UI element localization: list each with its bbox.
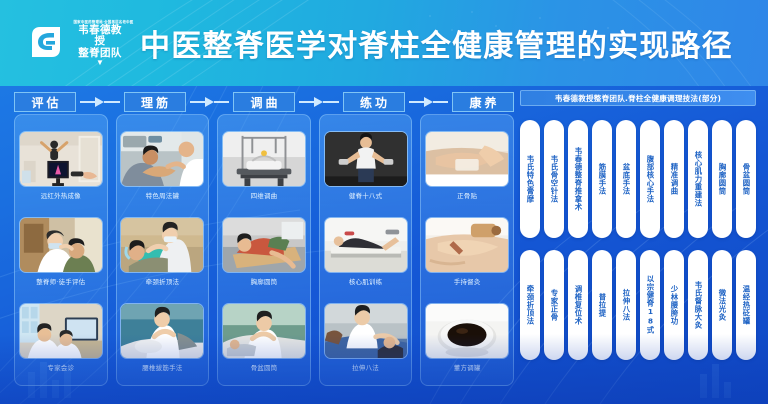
photo-cell[interactable]: 董方调罐 [425,303,509,372]
technique-tag[interactable]: 盆底手法 [616,120,636,238]
photo-cell[interactable]: 四维调曲 [222,131,306,200]
step-arrow-1 [76,97,124,107]
photo-pelvic-cylinder [222,303,306,359]
photo-caption: 整脊师·徒手评估 [36,276,85,286]
photo-cell[interactable]: 胸廓圆筒 [222,217,306,286]
technique-tag[interactable]: 温经热砭罐 [736,250,756,360]
technique-label: 韦氏督脉大灸 [693,281,703,329]
column-lijin: 特色周法罐 [116,114,210,386]
technique-tag[interactable]: 少林腰胯功 [664,250,684,360]
photo-cell[interactable]: 专家会诊 [19,303,103,372]
photo-cell[interactable]: 正骨贴 [425,131,509,200]
technique-list-panel: 韦春德教授整脊团队.脊柱全健康调理技法(部分) 韦氏特色膏摩 韦氏骨空针法 韦春… [520,90,756,386]
technique-panel-title: 韦春德教授整脊团队.脊柱全健康调理技法(部分) [520,90,756,106]
technique-label: 微法光灸 [717,289,727,321]
technique-tag[interactable]: 专家正骨 [544,250,564,360]
column-tiaoqu: 四维调曲 胸廓圆 [217,114,311,386]
technique-tag[interactable]: 骨盆圆筒 [736,120,756,238]
technique-label: 少林腰胯功 [669,285,679,325]
header-band: 国家中医药管理局·全国基层名老中医 韦春德教授 整脊团队 ▼ 中医整脊医学对脊柱… [0,0,768,86]
technique-label: 盆底手法 [621,163,631,195]
brand-logo-text: 国家中医药管理局·全国基层名老中医 韦春德教授 整脊团队 ▼ [74,20,126,67]
step-arrow-3 [295,97,343,107]
photo-caption: 腰椎拔筋手法 [142,362,182,372]
poster-canvas: 国家中医药管理局·全国基层名老中医 韦春德教授 整脊团队 ▼ 中医整脊医学对脊柱… [0,0,768,404]
photo-cell[interactable]: 远红外热成像 [19,131,103,200]
photo-caption: 专家会诊 [47,362,74,372]
technique-tag[interactable]: 胸廓圆筒 [712,120,732,238]
process-step-row: 评估 理筋 调曲 练功 康养 [14,90,514,114]
logo-top-line: 国家中医药管理局·全国基层名老中医 [73,20,126,25]
technique-tag[interactable]: 腹部核心手法 [640,120,660,238]
logo-caret-icon: ▼ [74,59,126,66]
photo-caption: 董方调罐 [454,362,481,372]
page-title: 中医整脊医学对脊柱全健康管理的实现路径 [140,21,733,65]
technique-tag[interactable]: 拉伸八法 [616,250,636,360]
technique-label: 韦春德整脊推拿术 [573,147,583,211]
technique-label: 胸廓圆筒 [717,163,727,195]
technique-label: 精准调曲 [669,163,679,195]
technique-label: 骨盆圆筒 [741,163,751,195]
photo-lumbar-tendon-technique [120,303,204,359]
technique-label: 韦氏骨空针法 [549,155,559,203]
photo-cell[interactable]: 拉伸八法 [324,303,408,372]
photo-caption: 牵颈折顶法 [146,276,180,286]
technique-label: 韦氏特色膏摩 [525,155,535,203]
photo-manual-assessment [19,217,103,273]
technique-tag[interactable]: 精准调曲 [664,120,684,238]
photo-cell[interactable]: 手持督灸 [425,217,509,286]
photo-cell[interactable]: 特色周法罐 [120,131,204,200]
photo-spine-exercise-18-forms [324,131,408,187]
photo-cell[interactable]: 核心肌训练 [324,217,408,286]
photo-bone-setting-patch [425,131,509,187]
technique-tag[interactable]: 韦氏骨空针法 [544,120,564,238]
technique-label: 拉伸八法 [621,289,631,321]
photo-cell[interactable]: 腰椎拔筋手法 [120,303,204,372]
technique-tag[interactable]: 微法光灸 [712,250,732,360]
step-chip-3[interactable]: 调曲 [233,92,295,112]
technique-label: 调椎复位术 [573,285,583,325]
technique-tag[interactable]: 核心肌力重建法 [688,120,708,238]
photo-stretching-eight-methods [324,303,408,359]
photo-four-dimension-traction-bed [222,131,306,187]
technique-label: 专家正骨 [549,289,559,321]
technique-tag[interactable]: 韦春德整脊推拿术 [568,120,588,238]
photo-caption: 核心肌训练 [349,276,383,286]
technique-label: 温经热砭罐 [741,285,751,325]
technique-label: 筋膜手法 [597,163,607,195]
photo-caption: 胸廓圆筒 [251,276,278,286]
technique-tag[interactable]: 以宗健脊18式 [640,250,660,360]
step-chip-1[interactable]: 评估 [14,92,76,112]
photo-neck-traction [120,217,204,273]
technique-tag[interactable]: 韦氏督脉大灸 [688,250,708,360]
technique-label: 普拉提 [597,293,607,317]
photo-cell[interactable]: 健脊十八式 [324,131,408,200]
photo-caption: 拉伸八法 [352,362,379,372]
technique-label: 牵颈折顶法 [525,285,535,325]
step-chip-5[interactable]: 康养 [452,92,514,112]
technique-tag[interactable]: 筋膜手法 [592,120,612,238]
column-pinggu: 远红外热成像 [14,114,108,386]
photo-caption: 手持督灸 [454,276,481,286]
technique-tag[interactable]: 调椎复位术 [568,250,588,360]
photo-cell[interactable]: 骨盆圆筒 [222,303,306,372]
step-arrow-4 [405,97,453,107]
photo-caption: 正骨贴 [457,190,477,200]
photo-caption: 骨盆圆筒 [251,362,278,372]
step-arrow-2 [186,97,234,107]
photo-cupping-therapy [120,131,204,187]
technique-label: 核心肌力重建法 [693,151,703,207]
technique-tag[interactable]: 普拉提 [592,250,612,360]
technique-row-1: 韦氏特色膏摩 韦氏骨空针法 韦春德整脊推拿术 筋膜手法 盆底手法 腹部核心手法 … [520,120,756,238]
photo-herbal-paste-bowl [425,303,509,359]
technique-tag[interactable]: 牵颈折顶法 [520,250,540,360]
photo-thermal-imaging-scan [19,131,103,187]
technique-row-2: 牵颈折顶法 专家正骨 调椎复位术 普拉提 拉伸八法 以宗健脊18式 少林腰胯功 … [520,250,756,360]
photo-cell[interactable]: 整脊师·徒手评估 [19,217,103,286]
photo-caption: 健脊十八式 [349,190,383,200]
photo-thoracic-cylinder [222,217,306,273]
photo-caption: 四维调曲 [251,190,278,200]
photo-caption: 特色周法罐 [146,190,180,200]
column-liangong: 健脊十八式 核心 [319,114,413,386]
brand-logo-icon [26,23,66,63]
photo-core-muscle-training [324,217,408,273]
photo-column-grid: 远红外热成像 [14,114,514,386]
logo-line-1: 韦春德教授 [74,25,126,48]
photo-cell[interactable]: 牵颈折顶法 [120,217,204,286]
column-kangyang: 正骨贴 手持督灸 [420,114,514,386]
technique-label: 腹部核心手法 [645,155,655,203]
step-chip-4[interactable]: 练功 [343,92,405,112]
photo-handheld-moxibustion [425,217,509,273]
step-chip-2[interactable]: 理筋 [124,92,186,112]
photo-expert-consultation [19,303,103,359]
technique-label: 以宗健脊18式 [645,275,655,334]
photo-caption: 远红外热成像 [41,190,81,200]
technique-tag[interactable]: 韦氏特色膏摩 [520,120,540,238]
